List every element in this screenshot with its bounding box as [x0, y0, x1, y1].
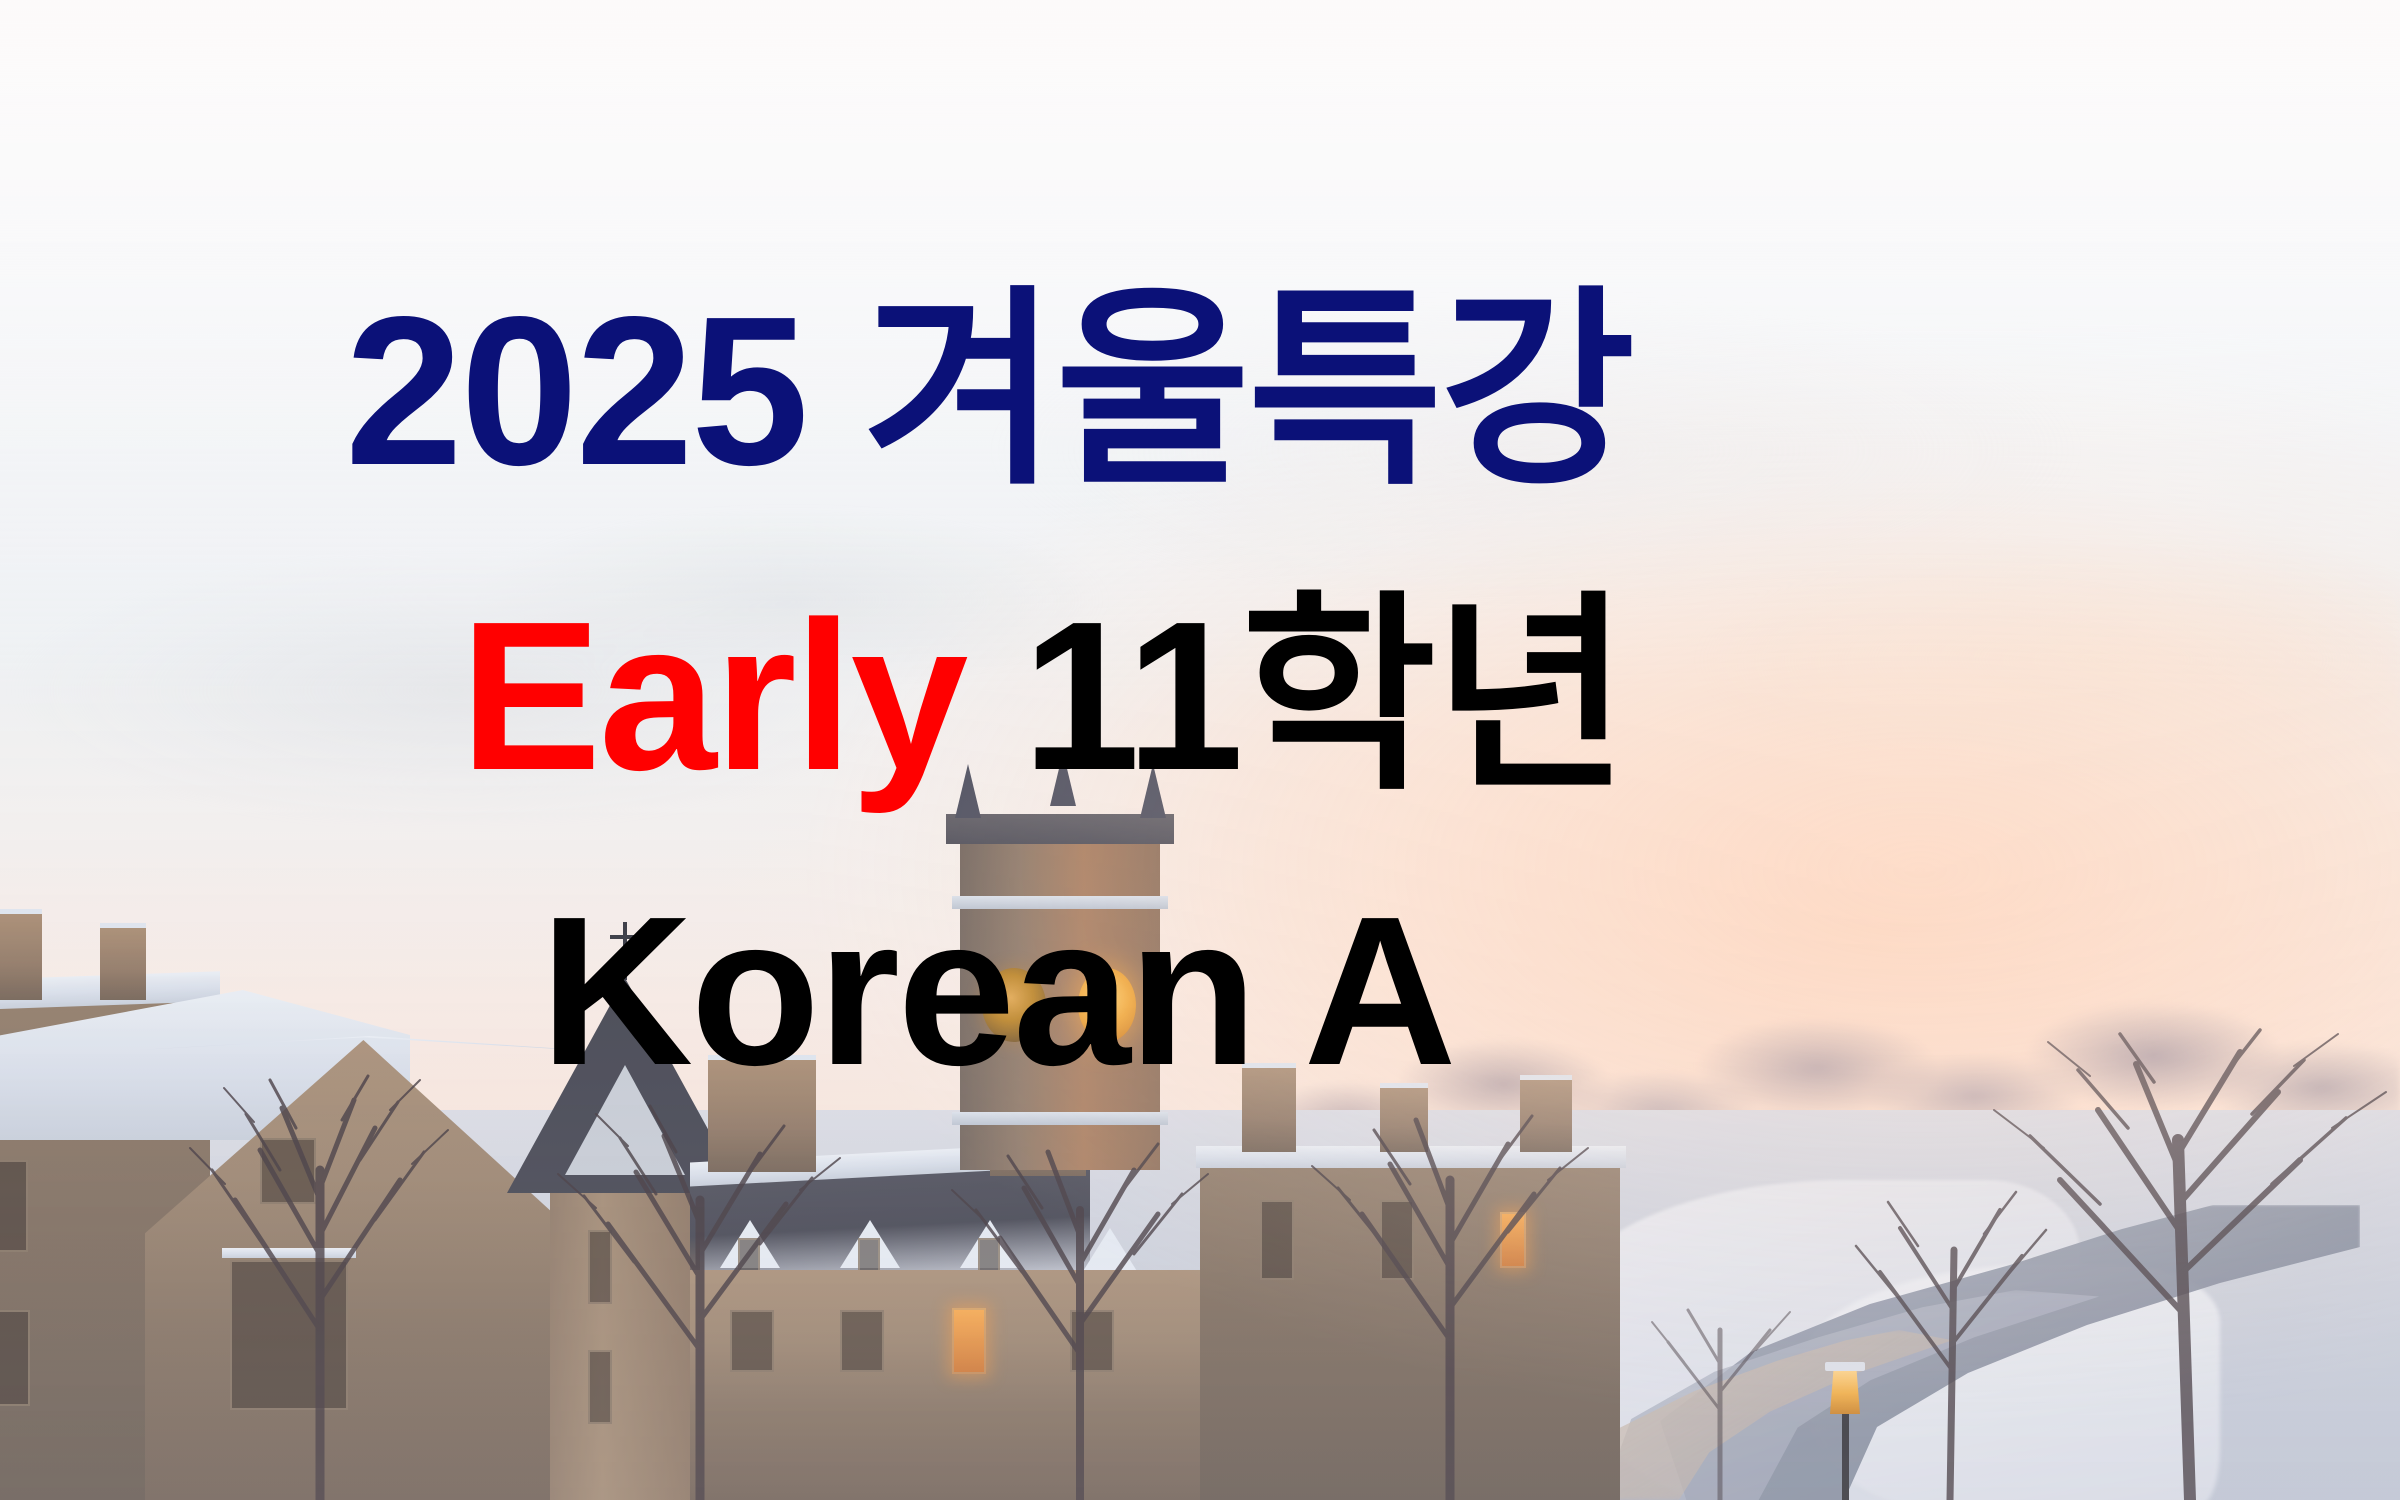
tower-snow-band [952, 1112, 1168, 1125]
chimney [100, 928, 146, 1000]
window-hood-snow [222, 1248, 356, 1258]
tower-pinnacle [955, 764, 981, 818]
turret-spire [623, 922, 627, 980]
lamp-post-pole [1842, 1400, 1849, 1500]
turret-roof-snow [565, 1065, 685, 1175]
college-buildings [0, 860, 1600, 1500]
tower-pinnacle [1050, 752, 1076, 806]
window [588, 1350, 612, 1424]
turret-body [550, 1190, 700, 1500]
poster-canvas: 2025 겨울특강 Early 11학년 Korean A [0, 0, 2400, 1500]
clock-face-left [982, 968, 1046, 1042]
window [858, 1238, 880, 1272]
window [0, 1160, 28, 1252]
window [588, 1230, 612, 1304]
lamp-post-light [1830, 1368, 1860, 1414]
window [738, 1238, 760, 1272]
dormer [1080, 1228, 1140, 1276]
tower-snow-band [952, 896, 1168, 909]
window [1260, 1200, 1294, 1280]
facade-wall [690, 1270, 1250, 1500]
clock-tower-cap [946, 814, 1174, 844]
chimney [1242, 1068, 1296, 1152]
chimney [0, 914, 42, 1000]
window [730, 1310, 774, 1372]
chimney [1380, 1088, 1428, 1152]
window [1380, 1200, 1414, 1280]
chimney [1520, 1080, 1572, 1152]
window [978, 1238, 1000, 1272]
window-lit [1500, 1212, 1526, 1268]
window [0, 1310, 30, 1406]
window [260, 1138, 316, 1204]
lamp-post-cap [1825, 1362, 1865, 1371]
window [1070, 1310, 1114, 1372]
chimney [708, 1060, 816, 1172]
window [840, 1310, 884, 1372]
window [230, 1260, 348, 1410]
tower-pinnacle [1140, 764, 1166, 818]
window-lit [952, 1308, 986, 1374]
clock-face-right [1078, 968, 1136, 1042]
